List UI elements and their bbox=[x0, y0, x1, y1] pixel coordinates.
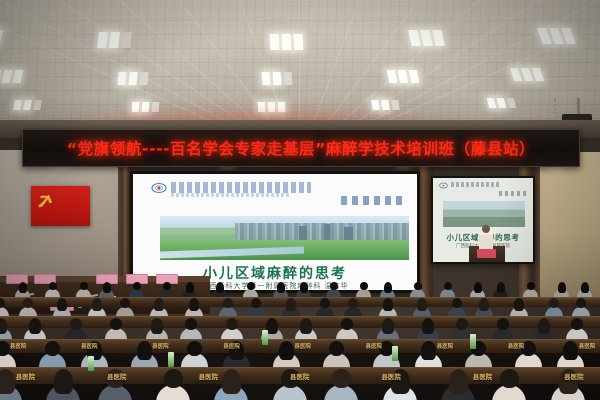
audience-member-head bbox=[382, 318, 394, 334]
audience-member-head bbox=[185, 318, 197, 330]
audience-member-head bbox=[329, 341, 344, 356]
audience-member-head bbox=[251, 298, 261, 308]
side-city-photo bbox=[443, 201, 525, 227]
audience-member-head bbox=[186, 282, 194, 293]
conference-hall-photo: “党旗领航----百名学会专家走基层”麻醉学技术培训班（藤县站） bbox=[0, 0, 600, 400]
audience-member-head bbox=[514, 298, 524, 311]
side-hospital-logo-icon bbox=[439, 182, 448, 189]
audience-member-head bbox=[383, 298, 393, 311]
audience-member-head bbox=[277, 282, 285, 293]
side-calligraphy bbox=[499, 191, 527, 196]
audience-member-head bbox=[70, 318, 82, 330]
ceiling-seam bbox=[0, 62, 600, 63]
audience-member-head bbox=[49, 282, 57, 290]
audience-area: 县医院县医院县医院县医院县医院县医院县医院县医院县医院县医院县医院县医院县医院县… bbox=[0, 268, 600, 400]
seat-label: 县医院 bbox=[294, 342, 311, 350]
seat-label: 县医院 bbox=[437, 342, 454, 350]
seat-label: 县医院 bbox=[290, 371, 310, 381]
audience-member-head bbox=[279, 341, 294, 360]
ceiling-light-panel bbox=[139, 72, 148, 85]
audience-member-head bbox=[23, 298, 33, 308]
audience-member-head bbox=[187, 341, 202, 356]
audience-member-head bbox=[216, 282, 224, 293]
audience-member-head bbox=[360, 282, 368, 290]
side-institution-name bbox=[451, 182, 499, 187]
audience-member-head bbox=[414, 282, 422, 290]
podium-sign bbox=[477, 249, 496, 258]
seat-row bbox=[0, 297, 600, 307]
ceiling-light-panel bbox=[294, 34, 304, 50]
banner-text: “党旗领航----百名学会专家走基层”麻醉学技术培训班（藤县站） bbox=[67, 137, 535, 159]
audience-member-head bbox=[479, 298, 489, 311]
slide-city-photo bbox=[160, 216, 409, 260]
hospital-logo-icon bbox=[151, 182, 167, 194]
audience-member-head bbox=[452, 298, 462, 308]
audience-member-head bbox=[57, 298, 67, 311]
audience-member-head bbox=[558, 282, 566, 293]
audience-member-head bbox=[497, 282, 505, 293]
audience-member-head bbox=[164, 369, 183, 388]
audience-member-head bbox=[54, 369, 73, 394]
audience-member-head bbox=[0, 369, 15, 394]
audience-member-head bbox=[163, 282, 171, 290]
audience-member-head bbox=[549, 298, 559, 308]
audience-member-head bbox=[571, 318, 583, 330]
ceiling-light-panel bbox=[270, 34, 280, 50]
audience-member-head bbox=[189, 298, 199, 311]
slide-institution-name bbox=[171, 182, 311, 193]
audience-member-head bbox=[581, 282, 589, 293]
audience-member-head bbox=[103, 282, 111, 293]
seat-label: 县医院 bbox=[223, 342, 240, 350]
speaker-head bbox=[482, 225, 490, 233]
seat-label: 县医院 bbox=[81, 342, 98, 350]
ceiling-light-panel bbox=[284, 72, 293, 85]
audience-member-head bbox=[300, 318, 312, 334]
seat-label: 县医院 bbox=[564, 371, 584, 381]
audience-member-head bbox=[137, 341, 152, 360]
ceiling bbox=[0, 0, 600, 132]
ceiling-seam bbox=[0, 76, 600, 77]
ceiling-seam bbox=[0, 90, 600, 91]
audience-member-head bbox=[538, 318, 550, 334]
audience-member-head bbox=[384, 282, 392, 293]
audience-member-head bbox=[527, 282, 535, 290]
seat-label: 县医院 bbox=[198, 371, 218, 381]
audience-member-head bbox=[286, 298, 296, 311]
seat-label: 县医院 bbox=[152, 342, 169, 350]
water-bottle bbox=[470, 334, 476, 349]
audience-member-head bbox=[341, 318, 353, 330]
audience-member-head bbox=[456, 318, 468, 330]
event-banner: “党旗领航----百名学会专家走基层”麻醉学技术培训班（藤县站） bbox=[22, 129, 580, 167]
audience-member-head bbox=[110, 318, 122, 330]
audience-member-head bbox=[422, 318, 434, 334]
audience-member-head bbox=[563, 341, 578, 360]
slide-accent-block bbox=[135, 218, 157, 258]
seat-label: 县医院 bbox=[365, 342, 382, 350]
audience-member-head bbox=[449, 369, 468, 394]
ceiling-light-panel bbox=[282, 34, 292, 50]
slide-calligraphy bbox=[341, 196, 407, 205]
seat-label: 县医院 bbox=[579, 342, 596, 350]
side-slide: 小儿区域麻醉的思考 广西医科大学第一附属医院 bbox=[433, 178, 533, 262]
audience-member-head bbox=[247, 282, 255, 290]
seat-label: 县医院 bbox=[107, 371, 127, 381]
audience-member-head bbox=[80, 282, 88, 290]
audience-member-head bbox=[19, 282, 27, 293]
audience-member-head bbox=[120, 298, 130, 308]
audience-member-head bbox=[348, 298, 358, 308]
audience-member-head bbox=[320, 298, 330, 308]
water-bottle bbox=[392, 346, 398, 361]
slide-institution-subname bbox=[171, 193, 291, 197]
audience-member-head bbox=[497, 318, 509, 330]
audience-member-head bbox=[29, 318, 41, 334]
seat-label: 县医院 bbox=[381, 371, 401, 381]
ceiling-light-panel bbox=[262, 72, 271, 85]
audience-member-head bbox=[444, 282, 452, 290]
audience-member-head bbox=[474, 282, 482, 293]
water-bottle bbox=[168, 352, 174, 367]
seat-label: 县医院 bbox=[10, 342, 27, 350]
audience-member-head bbox=[154, 298, 164, 311]
seat-label: 县医院 bbox=[508, 342, 525, 350]
ceiling-light-panel bbox=[117, 72, 126, 85]
seat-label: 县医院 bbox=[16, 371, 36, 381]
audience-member-head bbox=[133, 282, 141, 290]
seat-label: 县医院 bbox=[473, 371, 493, 381]
audience-member-head bbox=[45, 341, 60, 356]
audience-member-head bbox=[500, 369, 519, 388]
audience-member-head bbox=[226, 318, 238, 330]
water-bottle bbox=[88, 356, 94, 371]
audience-member-head bbox=[92, 298, 102, 311]
audience-member-head bbox=[300, 282, 308, 293]
audience-member-head bbox=[266, 318, 278, 334]
hammer-and-sickle-icon bbox=[37, 192, 55, 208]
audience-member-head bbox=[421, 341, 436, 360]
communist-party-flag bbox=[31, 186, 90, 226]
side-projection-screen: 小儿区域麻醉的思考 广西医科大学第一附属医院 bbox=[431, 176, 535, 264]
audience-member-head bbox=[151, 318, 163, 334]
ceiling-seam bbox=[0, 6, 600, 7]
audience-member-head bbox=[332, 369, 351, 388]
ceiling-light-panel bbox=[273, 72, 282, 85]
audience-member-head bbox=[417, 298, 427, 311]
water-bottle bbox=[262, 330, 268, 345]
ceiling-light-panel bbox=[128, 72, 137, 85]
audience-member-head bbox=[222, 369, 241, 394]
audience-member-head bbox=[330, 282, 338, 290]
